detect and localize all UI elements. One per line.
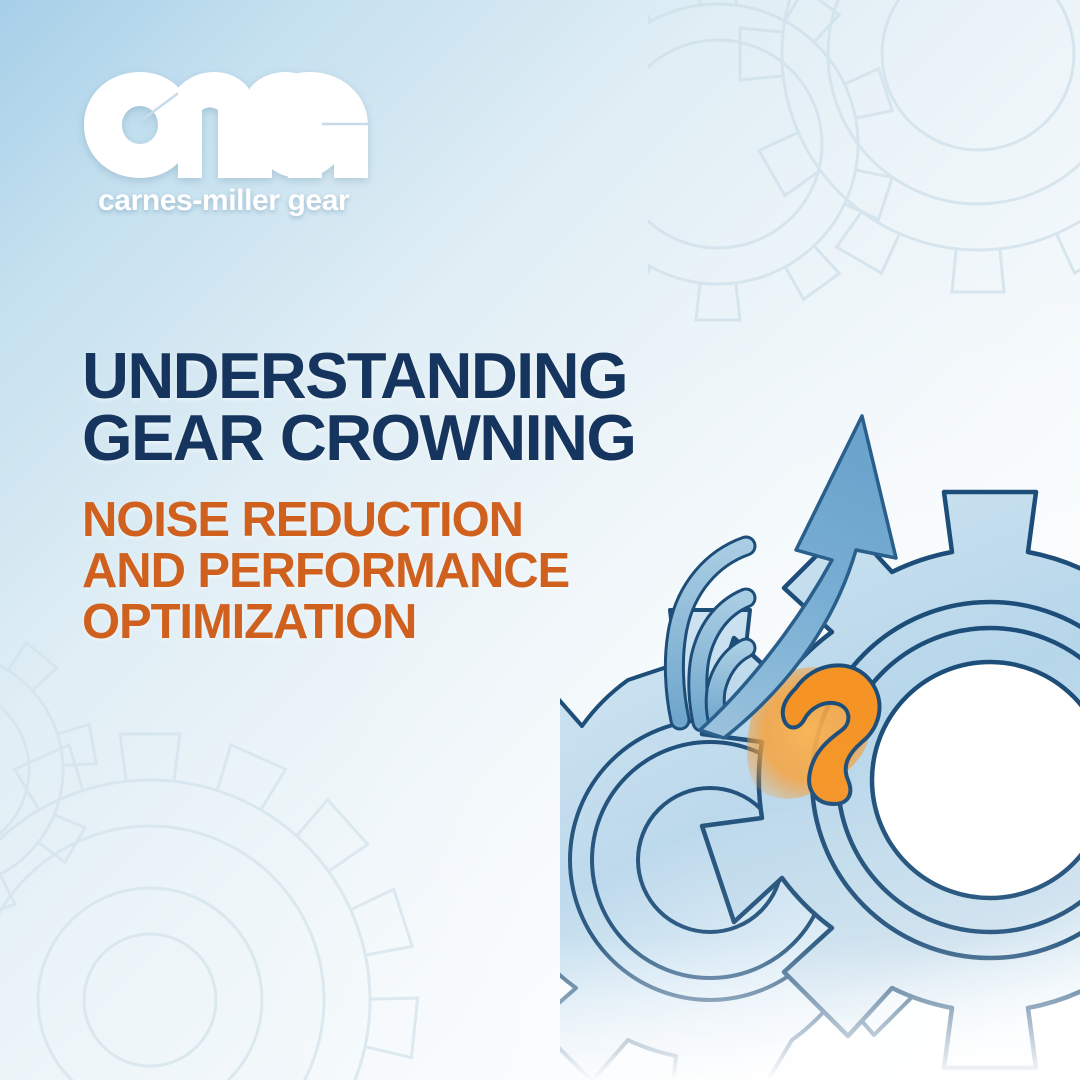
headline-line-1: UNDERSTANDING	[82, 345, 782, 407]
cmg-monogram-icon	[82, 70, 370, 180]
brand-logo[interactable]: carnes-miller gear	[82, 70, 382, 216]
social-graphic-canvas: carnes-miller gear UNDERSTANDING GEAR CR…	[0, 0, 1080, 1080]
background-gear-outline-bottom-left	[0, 620, 450, 1080]
brand-wordmark: carnes-miller gear	[98, 186, 382, 216]
gear-illustration	[560, 400, 1080, 1080]
gear-illustration-svg	[560, 400, 1080, 1080]
